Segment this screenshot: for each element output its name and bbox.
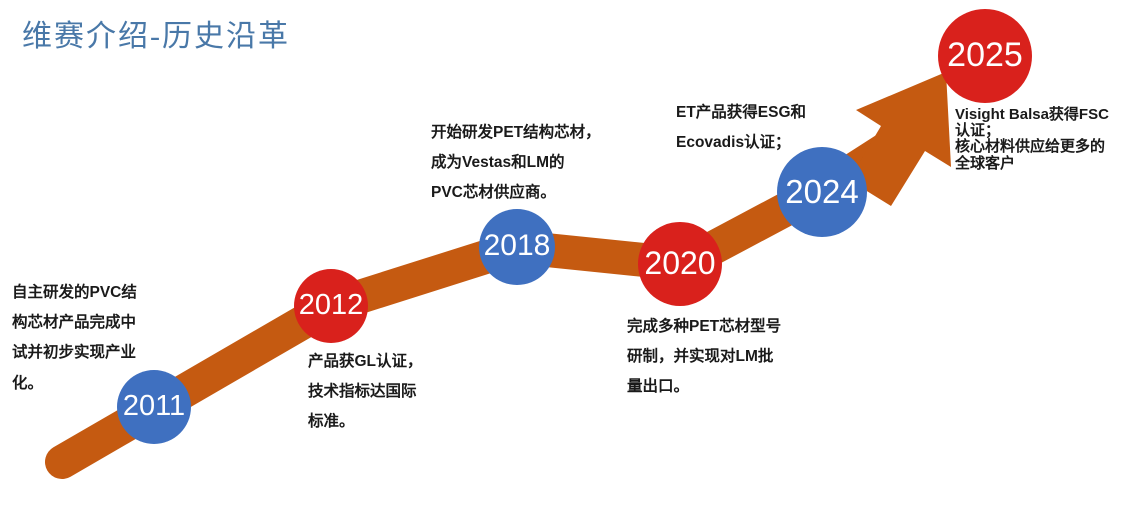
milestone-note-2025: Visight Balsa获得FSC 认证； 核心材料供应给更多的 全球客户 <box>955 107 1109 172</box>
milestone-year-2024: 2024 <box>785 175 858 208</box>
milestone-year-2012: 2012 <box>299 291 364 320</box>
note-line: 标准。 <box>308 407 423 437</box>
milestone-year-2025: 2025 <box>947 38 1023 72</box>
note-line: ET产品获得ESG和 <box>676 98 806 128</box>
slide-canvas: 维赛介绍-历史沿革 2011 2012 2018 2020 2024 2025 … <box>0 0 1146 520</box>
note-line: 完成多种PET芯材型号 <box>627 312 781 342</box>
note-line: 化。 <box>12 369 137 399</box>
note-line: 认证； <box>955 123 1109 139</box>
milestone-year-2018: 2018 <box>484 231 551 261</box>
note-line: 开始研发PET结构芯材， <box>431 118 601 148</box>
note-line: 技术指标达国际 <box>308 377 423 407</box>
note-line: Visight Balsa获得FSC <box>955 107 1109 123</box>
note-line: 构芯材产品完成中 <box>12 308 137 338</box>
milestone-note-2018: 开始研发PET结构芯材， 成为Vestas和LM的 PVC芯材供应商。 <box>431 118 601 209</box>
note-line: 全球客户 <box>955 156 1109 172</box>
milestone-year-2020: 2020 <box>644 247 715 279</box>
note-line: 研制，并实现对LM批 <box>627 342 781 372</box>
note-line: 核心材料供应给更多的 <box>955 139 1109 155</box>
note-line: 试并初步实现产业 <box>12 338 137 368</box>
milestone-node-2012[interactable]: 2012 <box>294 269 368 343</box>
note-line: PVC芯材供应商。 <box>431 178 601 208</box>
note-line: 产品获GL认证， <box>308 347 423 377</box>
note-line: 自主研发的PVC结 <box>12 278 137 308</box>
milestone-node-2020[interactable]: 2020 <box>638 222 722 306</box>
note-line: 量出口。 <box>627 372 781 402</box>
note-line: 成为Vestas和LM的 <box>431 148 601 178</box>
milestone-note-2012: 产品获GL认证， 技术指标达国际 标准。 <box>308 347 423 438</box>
note-line: Ecovadis认证； <box>676 128 806 158</box>
milestone-note-2020: 完成多种PET芯材型号 研制，并实现对LM批 量出口。 <box>627 312 781 403</box>
milestone-note-2011: 自主研发的PVC结 构芯材产品完成中 试并初步实现产业 化。 <box>12 278 137 399</box>
milestone-node-2025[interactable]: 2025 <box>938 9 1032 103</box>
milestone-node-2024[interactable]: 2024 <box>777 147 867 237</box>
milestone-node-2018[interactable]: 2018 <box>479 209 555 285</box>
milestone-note-2024: ET产品获得ESG和 Ecovadis认证； <box>676 98 806 158</box>
